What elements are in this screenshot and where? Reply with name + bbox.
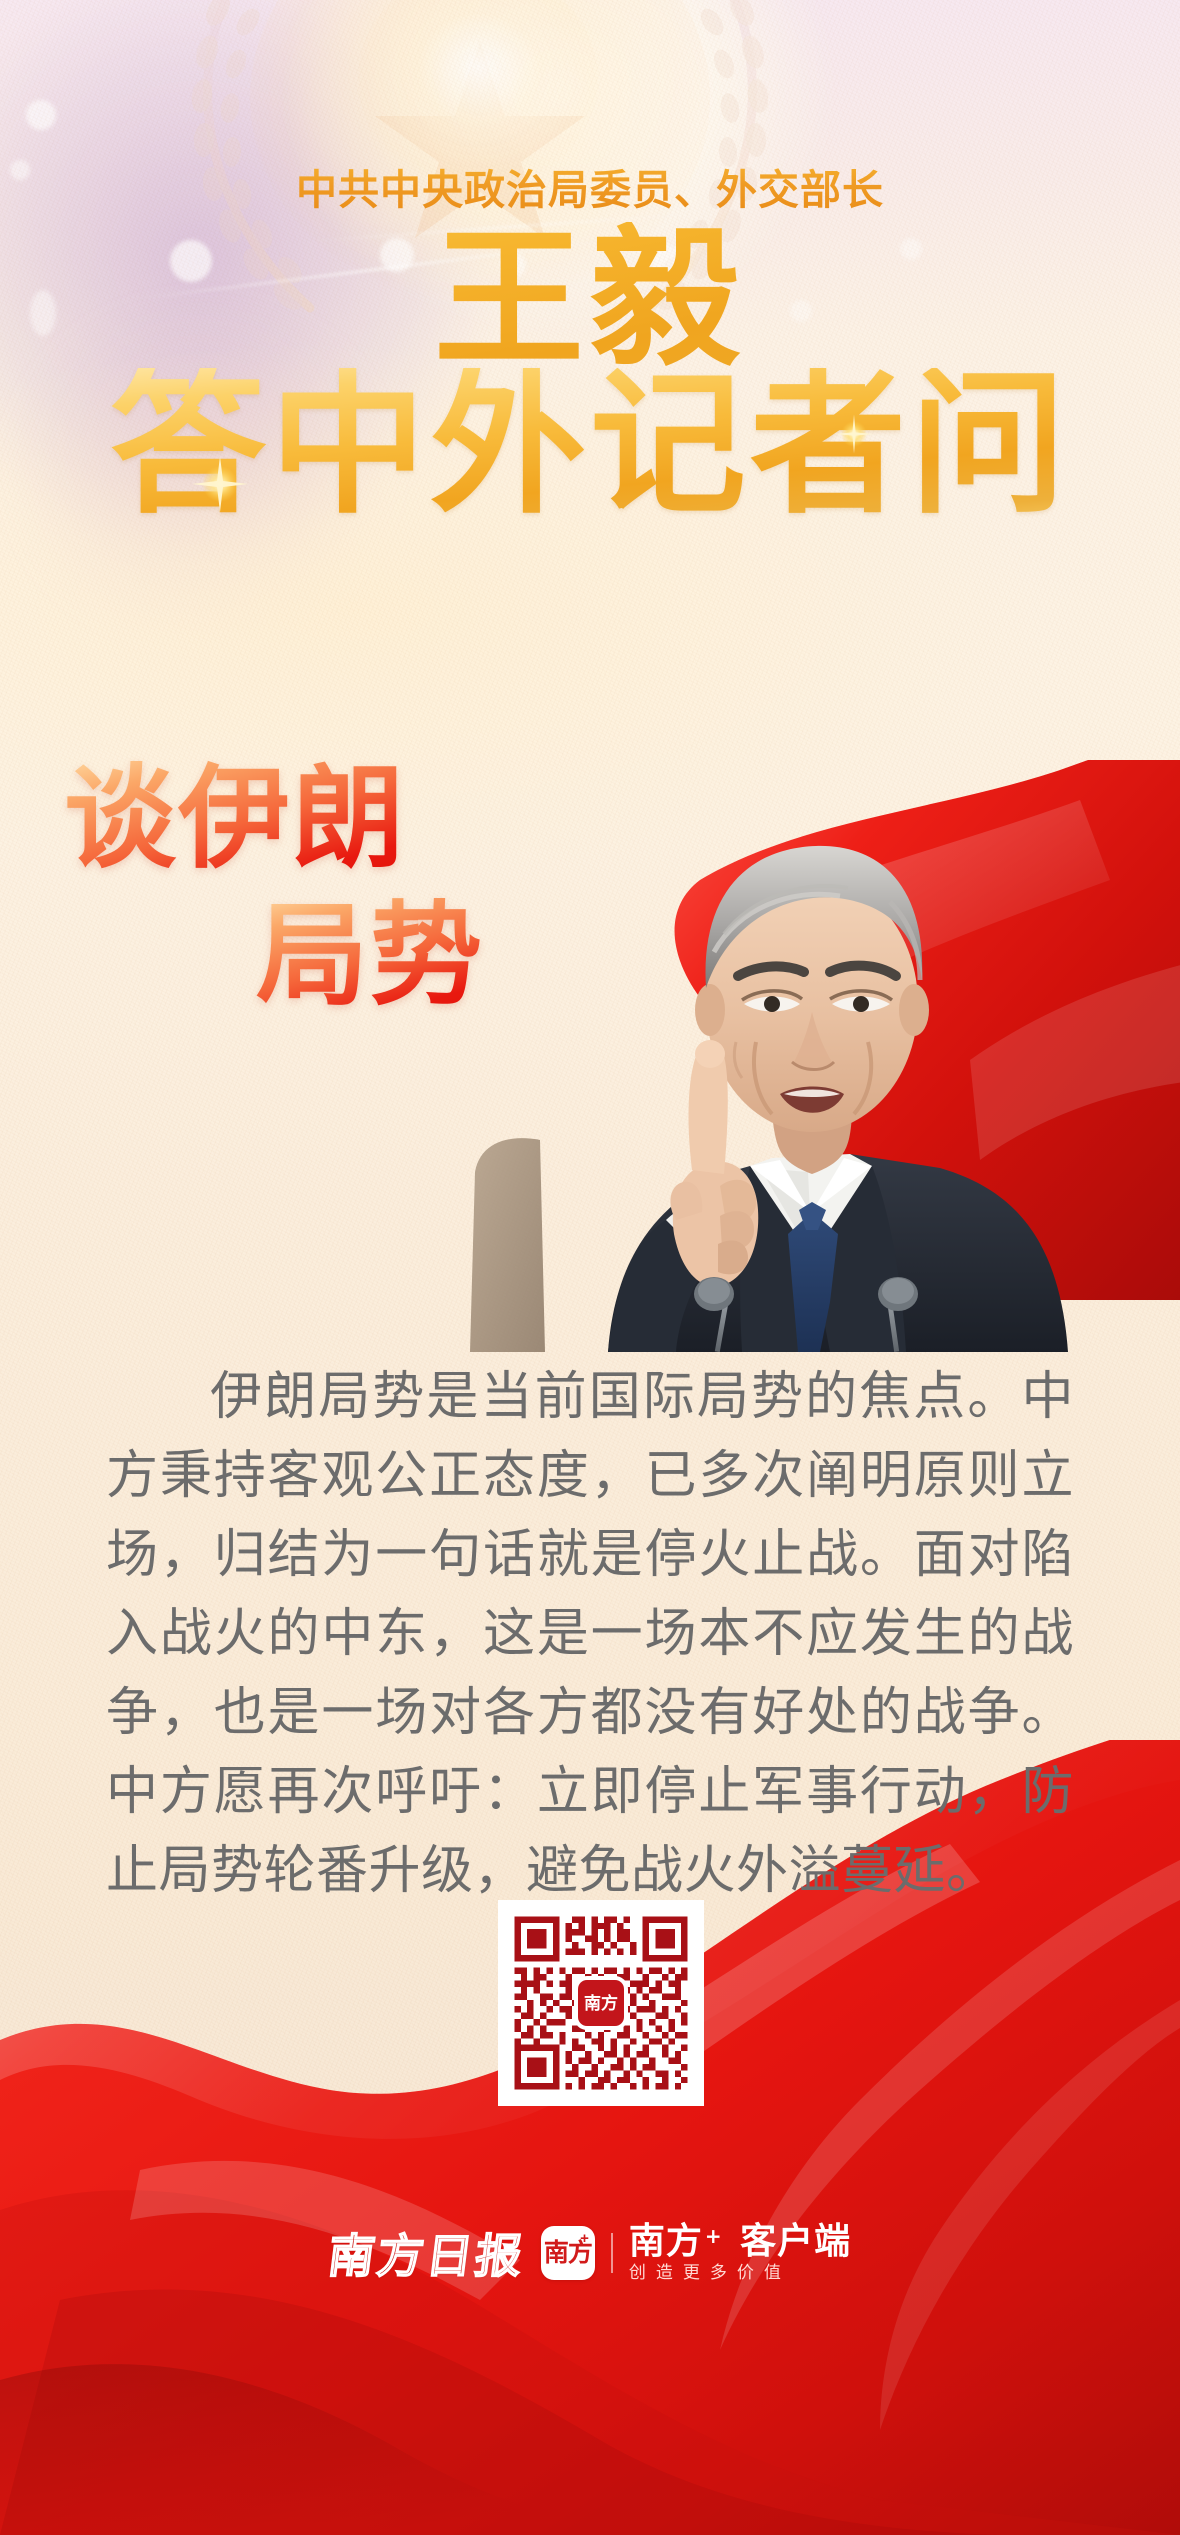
app-icon-plus: + xyxy=(580,2231,589,2246)
topic-line-2: 局势 xyxy=(256,895,484,1019)
page-title-name: 王毅 xyxy=(0,222,1180,381)
nanfang-plus-app-icon[interactable]: 南方 + xyxy=(541,2226,595,2280)
app-title-plus: + xyxy=(705,2226,723,2246)
app-text-block: 南方+ 客户端 创造更多价值 xyxy=(629,2224,851,2282)
qr-center-logo: 南方 xyxy=(578,1980,624,2026)
topic-line-1: 谈伊朗 xyxy=(64,758,406,882)
body-paragraph: 伊朗局势是当前国际局势的焦点。中方秉持客观公正态度，已多次阐明原则立场，归结为一… xyxy=(106,1358,1074,1911)
poster-canvas: 中共中央政治局委员、外交部长 王毅 答中外记者问 谈伊朗 局势 xyxy=(0,0,1180,2535)
headline-title: 答中外记者问 xyxy=(0,368,1180,524)
app-title-main: 南方 xyxy=(629,2224,703,2260)
footer-branding: 南方日报 南方 + 南方+ 客户端 创造更多价值 xyxy=(0,2220,1180,2286)
qr-center-logo-text: 南方 xyxy=(584,1995,618,2012)
eyebrow-title: 中共中央政治局委员、外交部长 xyxy=(0,156,1180,216)
app-title: 南方+ 客户端 xyxy=(629,2224,851,2260)
app-slogan: 创造更多价值 xyxy=(629,2265,851,2282)
nanfang-daily-logo: 南方日报 xyxy=(325,2220,529,2286)
app-title-tail: 客户端 xyxy=(740,2224,851,2260)
qr-code[interactable]: 南方 xyxy=(498,1900,704,2106)
portrait-wang-yi xyxy=(420,742,1120,1352)
footer-divider xyxy=(611,2233,613,2273)
topic-heading: 谈伊朗 局势 xyxy=(64,752,484,1025)
